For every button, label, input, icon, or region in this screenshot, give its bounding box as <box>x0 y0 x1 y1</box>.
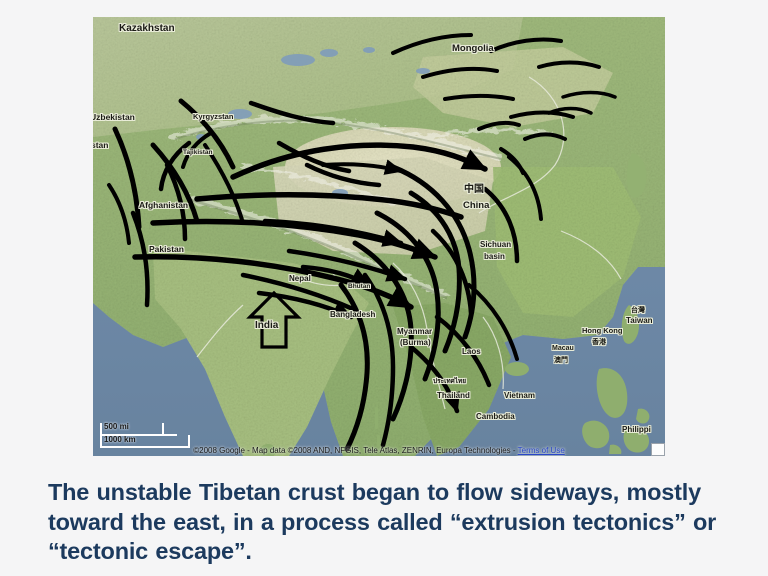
slide-caption: The unstable Tibetan crust began to flow… <box>48 478 738 567</box>
scale-km-label: 1000 km <box>104 435 136 444</box>
map-figure[interactable]: KazakhstanMongoliaUzbekistanKyrgyzstanst… <box>93 17 665 456</box>
india-block-arrow <box>250 293 298 347</box>
terms-of-use-link[interactable]: Terms of Use <box>518 446 565 455</box>
map-corner-box[interactable] <box>651 443 665 456</box>
attribution-text: ©2008 Google - Map data ©2008 AND, NFGIS… <box>193 446 517 455</box>
scale-miles-label: 500 mi <box>104 422 129 431</box>
tectonic-flow-overlay <box>93 17 665 456</box>
map-attribution: ©2008 Google - Map data ©2008 AND, NFGIS… <box>93 446 665 455</box>
